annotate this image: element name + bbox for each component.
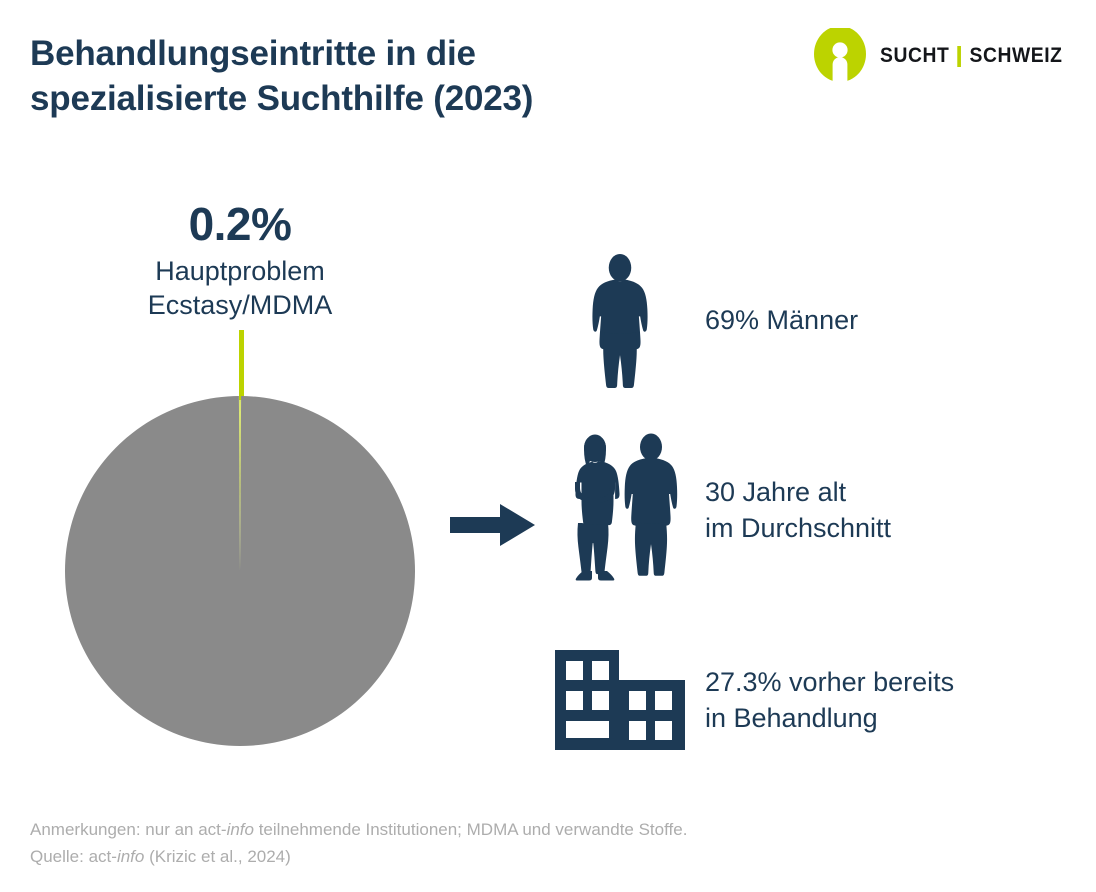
institution-building-icon [545, 640, 695, 760]
logo-wordmark: SUCHT SCHWEIZ [880, 44, 1063, 68]
footnote-source: Quelle: act-info (Krizic et al., 2024) [30, 843, 687, 870]
pie-caption-line-1: Hauptproblem [60, 254, 420, 289]
pie-callout: 0.2% Hauptproblem Ecstasy/MDMA [60, 200, 420, 323]
page-title-line-2: spezialisierte Suchthilfe (2023) [30, 77, 730, 122]
man-standing-icon [545, 250, 695, 390]
pie-leader-line [239, 330, 244, 400]
infographic-page: Behandlungseintritte in die spezialisier… [0, 0, 1096, 892]
logo-word-sucht: SUCHT [880, 44, 949, 68]
pie-chart [65, 330, 415, 750]
footnote-remarks: Anmerkungen: nur an act-info teilnehmend… [30, 816, 687, 843]
logo-person-mark-icon [814, 28, 866, 84]
stat-row-gender: 69% Männer [545, 250, 1025, 390]
stat-label-age-line-1: 30 Jahre alt [705, 477, 846, 507]
footnote-remarks-b: teilnehmende Institutionen; MDMA und ver… [254, 820, 687, 839]
footnote-source-italic: info [117, 847, 144, 866]
pie-percent-value: 0.2% [60, 200, 420, 250]
pie-chart-svg [65, 396, 415, 746]
footnotes: Anmerkungen: nur an act-info teilnehmend… [30, 816, 687, 870]
stat-label-age: 30 Jahre altim Durchschnitt [705, 474, 891, 546]
logo-word-schweiz: SCHWEIZ [969, 44, 1062, 68]
stat-row-age: 30 Jahre altim Durchschnitt [545, 430, 1025, 590]
sucht-schweiz-logo: SUCHT SCHWEIZ [814, 28, 1078, 84]
stat-label-age-line-2: im Durchschnitt [705, 513, 891, 543]
footnote-source-a: Quelle: act- [30, 847, 117, 866]
page-title: Behandlungseintritte in die spezialisier… [30, 32, 730, 122]
stat-label-prior-line-1: 27.3% vorher bereits [705, 667, 954, 697]
footnote-source-b: (Krizic et al., 2024) [144, 847, 290, 866]
logo-separator-bar [957, 46, 961, 67]
right-arrow-icon [450, 504, 535, 546]
stat-label-prior-treatment: 27.3% vorher bereitsin Behandlung [705, 664, 954, 736]
stat-label-prior-line-2: in Behandlung [705, 703, 878, 733]
stat-row-prior-treatment: 27.3% vorher bereitsin Behandlung [545, 640, 1045, 760]
page-title-line-1: Behandlungseintritte in die [30, 32, 730, 77]
pie-caption: Hauptproblem Ecstasy/MDMA [60, 254, 420, 323]
stat-label-gender: 69% Männer [705, 302, 858, 338]
pie-caption-line-2: Ecstasy/MDMA [60, 288, 420, 323]
footnote-remarks-italic: info [227, 820, 254, 839]
woman-and-man-icon [545, 430, 695, 590]
footnote-remarks-a: Anmerkungen: nur an act- [30, 820, 227, 839]
